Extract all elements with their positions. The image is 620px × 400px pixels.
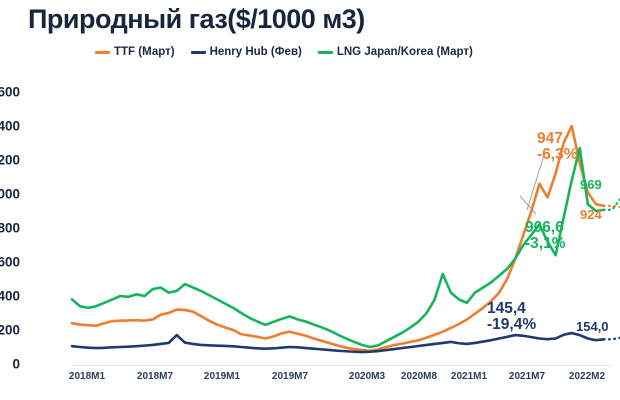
- annotation-lng-forecast-value: 969: [580, 177, 602, 192]
- x-tick-4: 2020M3: [349, 371, 385, 382]
- annotation-hh-current: 145,4 -19,4%: [487, 301, 536, 334]
- annotation-lng-forecast: 969: [580, 178, 602, 192]
- annotation-hh-forecast: 154,0: [576, 320, 609, 334]
- annotation-ttf-current: 947 -6,3%: [537, 131, 578, 164]
- x-axis: 2018M1 2018M7 2019M1 2019M7 2020M3 2020M…: [0, 0, 620, 400]
- annotation-ttf-current-change: -6,3%: [537, 147, 578, 163]
- x-tick-6: 2021M1: [451, 371, 487, 382]
- chart-container: Природный газ($/1000 м3) TTF (Март) Henr…: [0, 0, 620, 400]
- annotation-hh-forecast-value: 154,0: [576, 319, 609, 334]
- annotation-lng-current: 906,6 -3,1%: [525, 220, 566, 253]
- x-tick-1: 2018M7: [137, 371, 173, 382]
- annotation-hh-current-value: 145,4: [487, 301, 536, 317]
- annotation-ttf-forecast: 924: [580, 208, 602, 222]
- annotation-lng-current-value: 906,6: [525, 220, 566, 236]
- x-tick-5: 2020M8: [401, 371, 437, 382]
- x-tick-7: 2021M7: [509, 371, 545, 382]
- x-tick-0: 2018M1: [69, 371, 105, 382]
- annotation-hh-current-change: -19,4%: [487, 317, 536, 333]
- x-tick-8: 2022M2: [569, 371, 605, 382]
- annotation-ttf-forecast-value: 924: [580, 207, 602, 222]
- annotation-lng-current-change: -3,1%: [525, 236, 566, 252]
- x-tick-2: 2019M1: [204, 371, 240, 382]
- x-tick-3: 2019M7: [272, 371, 308, 382]
- annotation-ttf-current-value: 947: [537, 131, 578, 147]
